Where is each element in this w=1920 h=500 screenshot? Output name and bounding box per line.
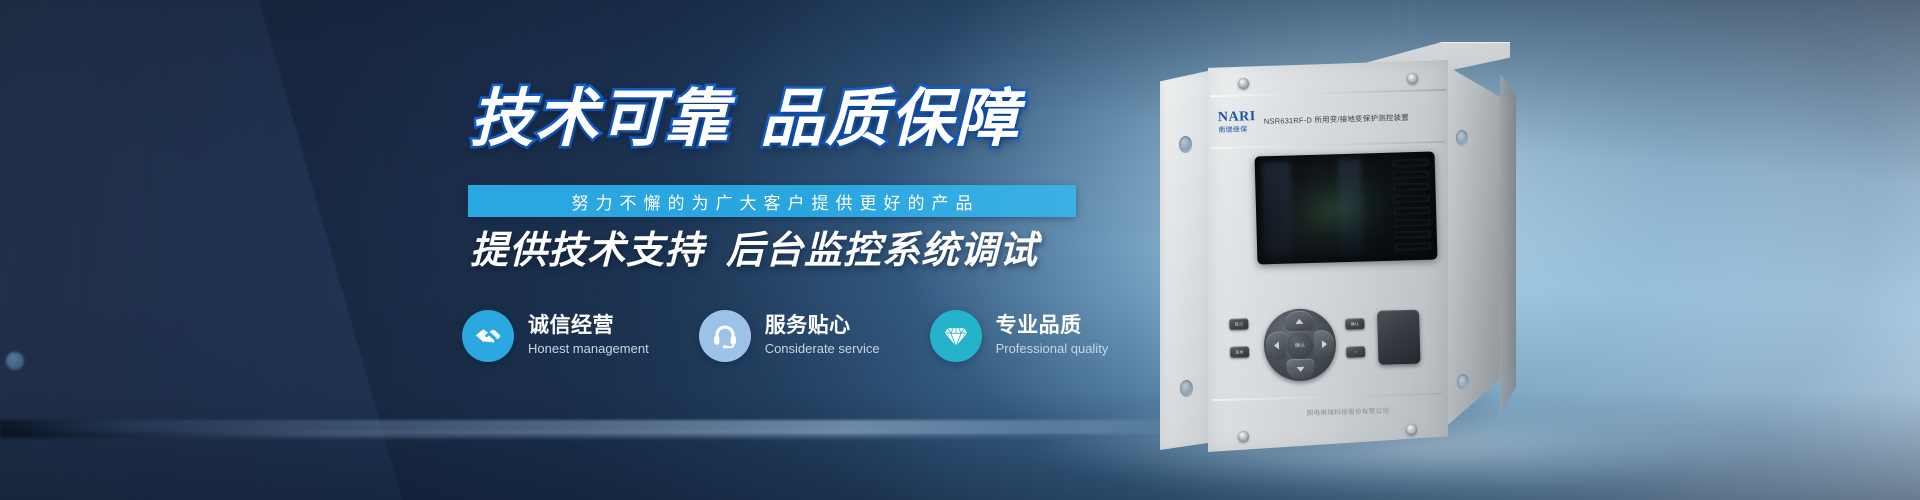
device-button-menu[interactable]: 菜单 [1230,346,1249,358]
led-indicator [1393,159,1429,167]
feature-list: 诚信经营 Honest management 服务贴心 Cons [462,310,1158,362]
nari-logo: NARI 南瑞继保 [1218,110,1256,134]
arrow-left-icon [1273,342,1278,350]
arrow-right-icon [1321,340,1326,348]
feature-text: 服务贴心 Considerate service [765,314,880,358]
mounting-hole [1179,136,1192,153]
tagline-text: 努力不懈的为广大客户提供更好的产品 [565,189,980,214]
panel-screw [1238,431,1249,442]
feature-item-professional-quality: 专业品质 Professional quality [930,310,1109,362]
feature-item-honest-management: 诚信经营 Honest management [462,310,649,362]
device-button-menu-label: 菜单 [1235,350,1244,354]
mounting-hole [1457,374,1469,390]
led-indicator [1393,171,1429,179]
feature-title-cn: 诚信经营 [528,314,649,338]
device-button-plus[interactable]: + [1346,346,1365,358]
device-nameplate: NARI 南瑞继保 NSR631RF-D 所用变/接地变保护测控装置 [1218,99,1447,139]
device-port-cover[interactable] [1377,310,1420,365]
headline: 技术可靠品质保障 [470,88,1020,151]
feature-text: 专业品质 Professional quality [996,314,1109,358]
feature-title-en: Honest management [528,341,649,358]
headset-icon [699,310,751,362]
feature-title-en: Considerate service [765,341,880,358]
subheadline: 提供技术支持后台监控系统调试 [470,232,1038,270]
panel-screw [1407,73,1418,84]
dpad-left-button[interactable] [1266,331,1287,360]
product-device-image: NARI 南瑞继保 NSR631RF-D 所用变/接地变保护测控装置 复归 [1148,18,1568,468]
mounting-hole [1180,380,1193,397]
tagline-bar: 努力不懈的为广大客户提供更好的产品 [468,185,1076,217]
brand-name-cn: 南瑞继保 [1218,126,1256,134]
panel-screw [1406,424,1417,435]
lcd-reflection [1337,159,1363,257]
led-indicator [1394,195,1430,203]
feature-title-cn: 服务贴心 [765,314,880,338]
device-control-area: 复归 菜单 确认 确认 + [1227,307,1439,385]
handshake-icon [462,310,514,362]
text-content-block: 技术可靠品质保障 努力不懈的为广大客户提供更好的产品 提供技术支持后台监控系统调… [0,0,1150,500]
device-rear-edge [1500,74,1516,414]
led-indicator [1394,207,1430,215]
device-model-label: NSR631RF-D 所用变/接地变保护测控装置 [1264,111,1409,126]
arrow-up-icon [1295,318,1303,323]
lcd-reflection [1262,162,1293,258]
diamond-icon [930,310,982,362]
feature-text: 诚信经营 Honest management [528,314,649,358]
mounting-hole [1456,130,1468,146]
led-indicator [1394,219,1430,227]
device-button-reset-label: 复归 [1235,322,1244,326]
device-dpad[interactable]: 确认 [1263,308,1337,382]
arrow-down-icon [1297,366,1305,371]
dpad-ok-label: 确认 [1295,341,1305,348]
device-button-confirm-label: 确认 [1351,322,1360,326]
panel-screw [1238,78,1249,89]
led-indicator-strip [1393,159,1432,251]
feature-item-considerate-service: 服务贴心 Considerate service [699,310,880,362]
headline-part-2: 品质保障 [760,84,1020,154]
device-button-confirm[interactable]: 确认 [1345,318,1364,330]
device-lcd-screen [1255,152,1438,265]
led-indicator [1395,243,1431,251]
feature-title-en: Professional quality [996,341,1109,358]
headline-part-1: 技术可靠 [470,84,730,154]
dpad-up-button[interactable] [1285,311,1314,332]
subheadline-part-1: 提供技术支持 [470,230,704,272]
brand-name-en: NARI [1218,110,1256,125]
feature-title-cn: 专业品质 [996,314,1109,338]
led-indicator [1395,231,1431,239]
led-indicator [1393,183,1429,191]
promotional-banner: 技术可靠品质保障 努力不懈的为广大客户提供更好的产品 提供技术支持后台监控系统调… [0,0,1920,500]
subheadline-part-2: 后台监控系统调试 [726,230,1038,272]
device-button-reset[interactable]: 复归 [1229,318,1248,330]
device-button-plus-label: + [1354,350,1357,354]
